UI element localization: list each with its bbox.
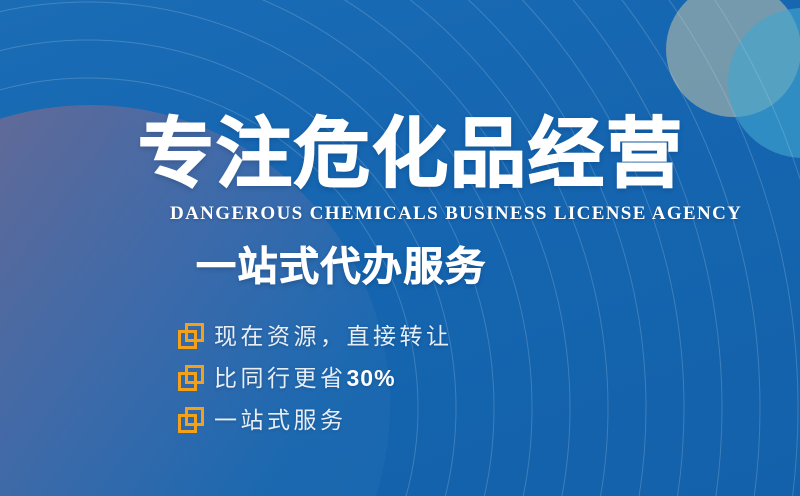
overlapping-squares-icon [178, 323, 204, 349]
english-subtitle: DANGEROUS CHEMICALS BUSINESS LICENSE AGE… [170, 203, 742, 225]
list-item: 一站式服务 [178, 401, 453, 439]
list-item-label: 比同行更省30% [214, 364, 396, 392]
list-item: 现在资源，直接转让 [178, 317, 453, 355]
overlapping-squares-icon [178, 407, 204, 433]
list-item-emphasis: 30% [347, 365, 396, 391]
page-title: 专注危化品经营 [138, 112, 684, 198]
list-item-text: 一站式服务 [214, 407, 347, 433]
list-item: 比同行更省30% [178, 359, 453, 397]
feature-list: 现在资源，直接转让 比同行更省30% 一站式服务 [178, 317, 453, 443]
service-subtitle: 一站式代办服务 [196, 244, 487, 290]
list-item-text: 现在资源，直接转让 [214, 323, 453, 349]
overlapping-squares-icon [178, 365, 204, 391]
promo-banner: 专注危化品经营 DANGEROUS CHEMICALS BUSINESS LIC… [0, 0, 800, 496]
list-item-label: 现在资源，直接转让 [214, 322, 453, 350]
banner-content: 专注危化品经营 DANGEROUS CHEMICALS BUSINESS LIC… [0, 0, 800, 496]
list-item-label: 一站式服务 [214, 406, 347, 434]
list-item-text: 比同行更省 [214, 365, 347, 391]
